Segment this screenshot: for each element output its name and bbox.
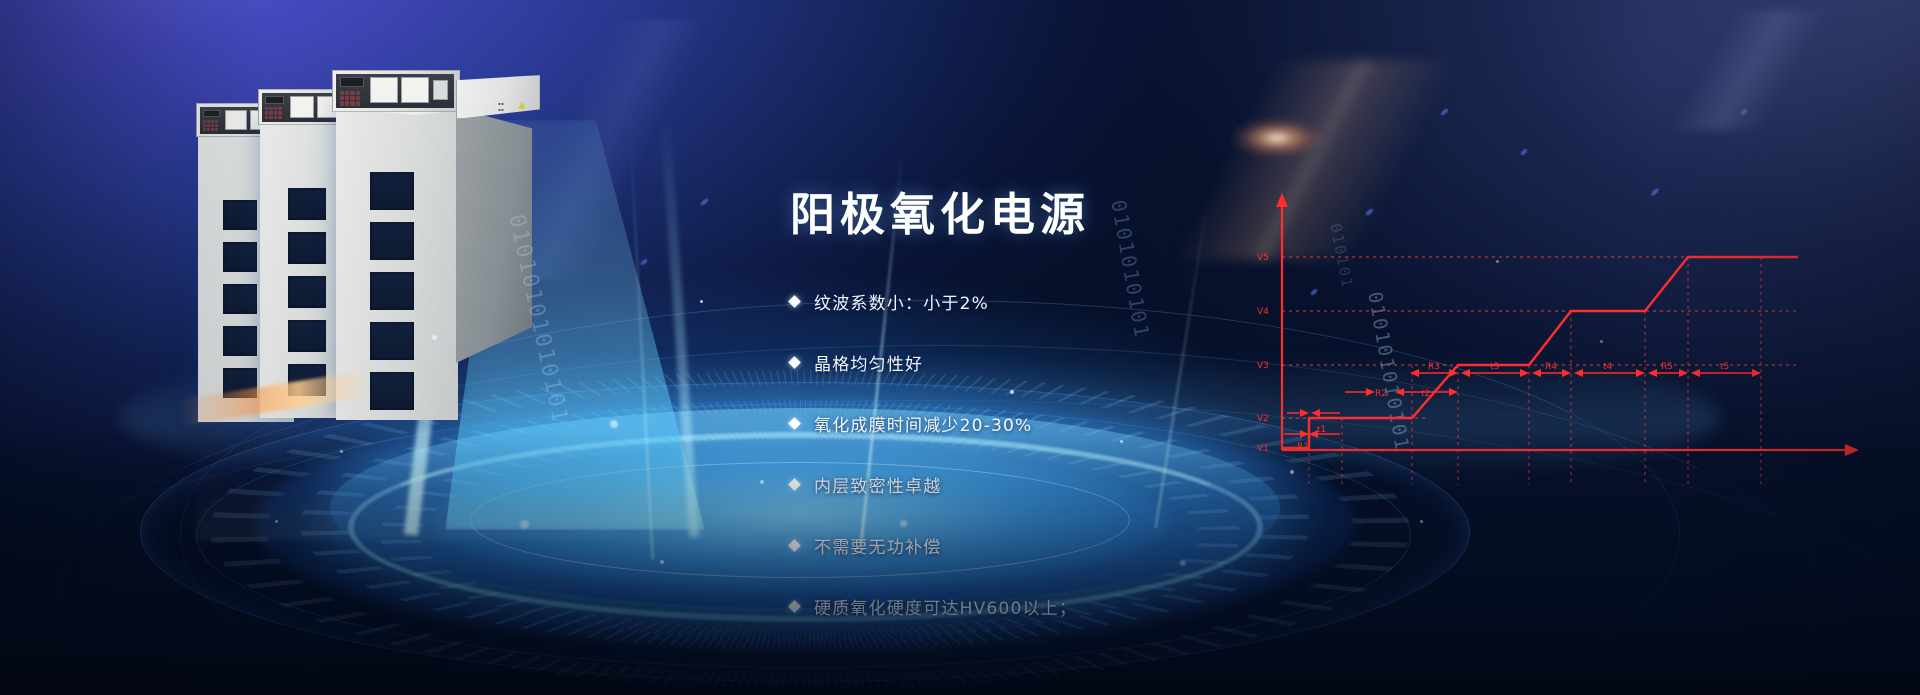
keypad-key[interactable]	[207, 124, 210, 127]
keypad-key[interactable]	[211, 124, 214, 127]
page-title: 阳极氧化电源	[790, 178, 1090, 243]
keypad-key[interactable]	[211, 120, 214, 123]
cabinet-middle-label-1	[290, 96, 314, 118]
keypad-key[interactable]	[278, 107, 281, 110]
chart-label-t2: t2	[1421, 389, 1430, 399]
keypad-key[interactable]	[203, 128, 206, 131]
keypad-key[interactable]	[278, 116, 281, 119]
cabinet-left-vent-2	[223, 242, 257, 272]
chart-y-tick-v4: V4	[1257, 307, 1269, 317]
cabinet-right-label-1	[370, 77, 398, 103]
keypad-key[interactable]	[269, 116, 272, 119]
keypad-key[interactable]	[356, 96, 360, 100]
cabinet-right-vent-3	[370, 272, 414, 310]
keypad-key[interactable]	[207, 120, 210, 123]
keypad-key[interactable]	[265, 116, 268, 119]
keypad-key[interactable]	[350, 96, 354, 100]
cabinet-right-vent-1	[370, 172, 414, 210]
cabinet-right-keypad	[340, 91, 360, 106]
cabinet-right-label-2	[401, 77, 429, 103]
particle	[760, 480, 764, 484]
list-item: 硬质氧化硬度可达HV600以上；	[790, 595, 1390, 617]
cabinet-middle-vent-1	[288, 188, 326, 220]
cabinet-left-display	[203, 110, 220, 117]
cabinet-left-label-1	[225, 110, 247, 130]
chart-measure-arrows-upper	[1410, 369, 1761, 377]
chart-svg: V5 V4 V3 V2 V1	[1245, 185, 1865, 495]
chart-x-arrow-icon	[1845, 444, 1859, 456]
cabinet-left-vent-4	[223, 326, 257, 356]
diamond-bullet-icon	[788, 478, 801, 491]
diamond-bullet-icon	[788, 295, 801, 308]
cabinet-middle-vent-2	[288, 232, 326, 264]
chart-y-tick-v1: V1	[1257, 444, 1269, 454]
keypad-key[interactable]	[350, 91, 354, 95]
chart-label-t1: t1	[1317, 425, 1326, 435]
cabinet-right-vent-5	[370, 372, 414, 410]
keypad-key[interactable]	[265, 107, 268, 110]
keypad-key[interactable]	[356, 101, 360, 105]
chart-label-r1: R1	[1297, 442, 1309, 452]
chart-y-arrow-icon	[1276, 193, 1288, 207]
keypad-key[interactable]	[274, 107, 277, 110]
cabinet-middle-vent-3	[288, 276, 326, 308]
keypad-key[interactable]	[215, 124, 218, 127]
particle	[1420, 520, 1423, 523]
keypad-key[interactable]	[340, 91, 344, 95]
keypad-key[interactable]	[345, 101, 349, 105]
list-item-label: 硬质氧化硬度可达HV600以上；	[814, 594, 1077, 619]
chart-label-t3: t3	[1490, 362, 1499, 372]
particle	[610, 420, 618, 428]
voltage-profile-chart: V5 V4 V3 V2 V1	[1245, 185, 1865, 495]
chart-measure-arrows-mid	[1345, 388, 1458, 396]
cabinet-right-breaker	[433, 80, 448, 100]
list-item-label: 不需要无功补偿	[814, 533, 941, 558]
keypad-key[interactable]	[269, 107, 272, 110]
cabinet-middle-display	[265, 96, 284, 104]
particle	[700, 300, 703, 303]
particle	[432, 335, 437, 340]
hazard-warning-icon	[518, 102, 526, 109]
keypad-key[interactable]	[278, 111, 281, 114]
list-item-label: 纹波系数小：小于2%	[814, 289, 989, 314]
keypad-key[interactable]	[215, 120, 218, 123]
keypad-key[interactable]	[274, 116, 277, 119]
keypad-key[interactable]	[207, 128, 210, 131]
list-item-label: 氧化成膜时间减少20-30%	[814, 411, 1032, 436]
diamond-bullet-icon	[788, 356, 801, 369]
cabinet-left-vent-3	[223, 284, 257, 314]
diamond-bullet-icon	[788, 417, 801, 430]
chart-voltage-curve	[1282, 257, 1798, 448]
list-item-label: 内层致密性卓越	[814, 472, 941, 497]
diamond-bullet-icon	[788, 539, 801, 552]
chart-label-r2: R2	[1375, 389, 1387, 399]
particle	[275, 520, 278, 523]
cabinet-model-badge: ▪▪	[498, 101, 504, 106]
list-item: 不需要无功补偿	[790, 534, 1390, 556]
keypad-key[interactable]	[203, 124, 206, 127]
cabinet-right-display	[340, 77, 364, 87]
chart-y-tick-v2: V2	[1257, 414, 1269, 424]
diamond-bullet-icon	[788, 600, 801, 613]
cabinet-model-badge-2: ▪▪	[498, 107, 504, 112]
chart-label-r3: R3	[1428, 362, 1440, 372]
keypad-key[interactable]	[274, 111, 277, 114]
chart-y-tick-v5: V5	[1257, 253, 1269, 263]
keypad-key[interactable]	[215, 128, 218, 131]
chart-label-r4: R4	[1545, 362, 1557, 372]
cabinet-middle-keypad	[265, 107, 282, 119]
cabinet-left-vent-1	[223, 200, 257, 230]
cabinet-right-control-hood	[332, 70, 460, 112]
cabinet-right-vent-2	[370, 222, 414, 260]
chart-measure-arrows-lower	[1284, 409, 1340, 438]
list-item-label: 晶格均匀性好	[814, 350, 923, 375]
keypad-key[interactable]	[340, 101, 344, 105]
keypad-key[interactable]	[269, 111, 272, 114]
cabinet-right-hood-extension	[456, 75, 540, 119]
keypad-key[interactable]	[203, 120, 206, 123]
keypad-key[interactable]	[345, 91, 349, 95]
cabinet-right-vent-4	[370, 322, 414, 360]
particle	[340, 450, 343, 453]
cabinet-middle-vent-4	[288, 320, 326, 352]
particle	[520, 520, 529, 529]
chart-label-t4: t4	[1603, 362, 1613, 372]
anodizing-power-supply-banner: ▪▪ ▪▪ 01010101010101 0101010101 01010101…	[0, 0, 1920, 695]
cabinet-left-keypad	[203, 120, 218, 131]
keypad-key[interactable]	[350, 101, 354, 105]
keypad-key[interactable]	[340, 96, 344, 100]
chart-label-r5: R5	[1661, 362, 1673, 372]
chart-y-tick-v3: V3	[1257, 361, 1269, 371]
chart-label-t5: t5	[1720, 362, 1729, 372]
chart-level-gridlines	[1282, 257, 1798, 418]
keypad-key[interactable]	[345, 96, 349, 100]
keypad-key[interactable]	[211, 128, 214, 131]
cabinet-reflection	[198, 430, 618, 540]
particle	[660, 560, 664, 564]
keypad-key[interactable]	[356, 91, 360, 95]
chart-axes	[1276, 193, 1859, 456]
keypad-key[interactable]	[265, 111, 268, 114]
